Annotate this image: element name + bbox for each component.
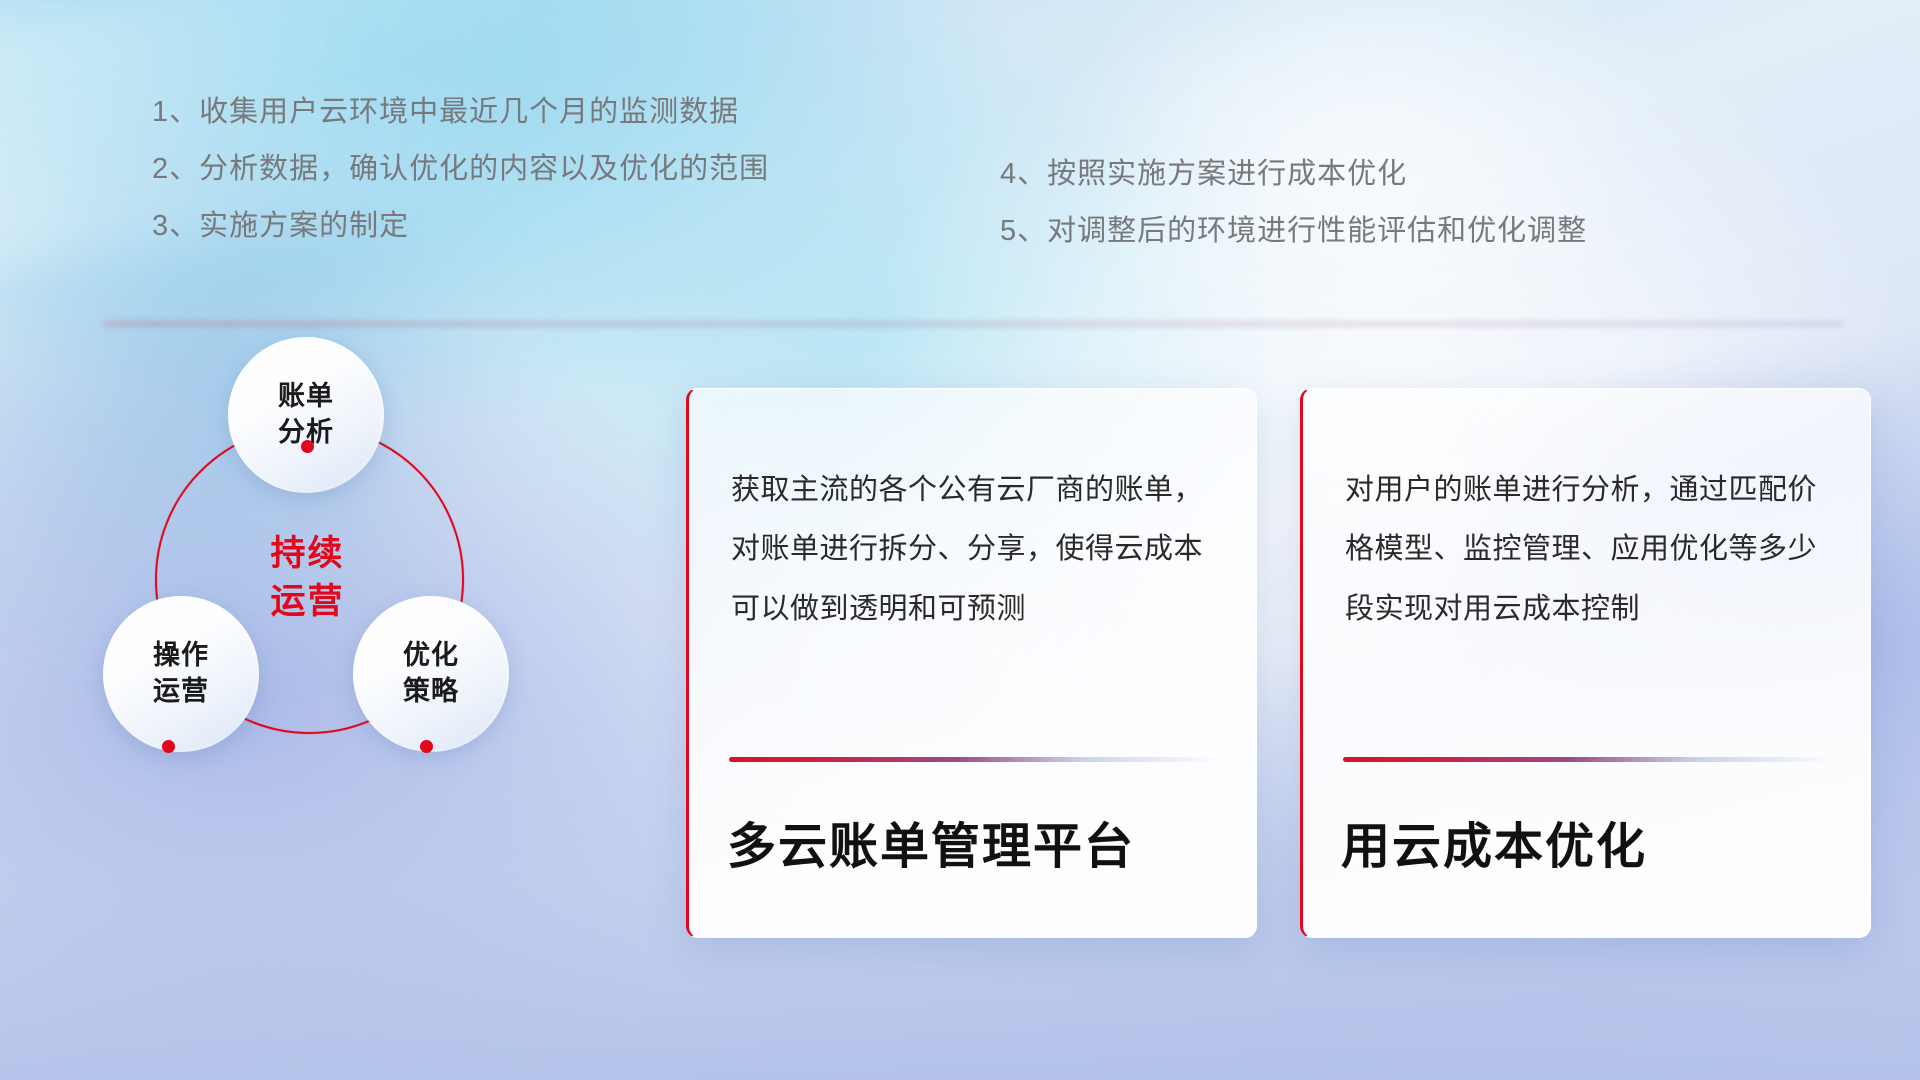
process-step-3: 3、实施方案的制定 bbox=[152, 212, 769, 241]
card-cloud-cost-optimization[interactable]: 对用户的账单进行分析，通过匹配价格模型、监控管理、应用优化等多少段实现对用云成本… bbox=[1300, 388, 1871, 938]
diagram-node-bill-analysis[interactable]: 账单 分析 bbox=[228, 337, 384, 493]
card-2-accent-rule bbox=[1343, 757, 1833, 762]
card-multi-cloud-billing-platform[interactable]: 获取主流的各个公有云厂商的账单，对账单进行拆分、分享，使得云成本可以做到透明和可… bbox=[686, 388, 1257, 938]
continuous-operation-diagram: 持续 运营 账单 分析 操作 运营 优化 策略 bbox=[95, 350, 565, 950]
process-steps-text: 1、收集用户云环境中最近几个月的监测数据 2、分析数据，确认优化的内容以及优化的… bbox=[0, 0, 1920, 270]
node-label-line1: 操作 bbox=[153, 638, 209, 674]
node-label-line1: 优化 bbox=[403, 638, 459, 674]
center-label-line1: 持续 bbox=[270, 530, 344, 577]
card-2-body: 对用户的账单进行分析，通过匹配价格模型、监控管理、应用优化等多少段实现对用云成本… bbox=[1345, 461, 1840, 639]
process-step-2: 2、分析数据，确认优化的内容以及优化的范围 bbox=[152, 155, 769, 184]
diagram-node-optimization-strategy-label: 优化 策略 bbox=[403, 638, 459, 709]
process-steps-left-column: 1、收集用户云环境中最近几个月的监测数据 2、分析数据，确认优化的内容以及优化的… bbox=[152, 98, 769, 269]
process-step-1: 1、收集用户云环境中最近几个月的监测数据 bbox=[152, 98, 769, 127]
card-1-accent-rule bbox=[729, 757, 1219, 762]
card-2-title: 用云成本优化 bbox=[1341, 807, 1647, 878]
node-label-line2: 运营 bbox=[153, 674, 209, 710]
node-label-line1: 账单 bbox=[278, 379, 334, 415]
process-steps-right-column: 4、按照实施方案进行成本优化 5、对调整后的环境进行性能评估和优化调整 bbox=[1000, 160, 1587, 274]
process-step-4: 4、按照实施方案进行成本优化 bbox=[1000, 160, 1587, 189]
process-step-5: 5、对调整后的环境进行性能评估和优化调整 bbox=[1000, 217, 1587, 246]
diagram-node-operation[interactable]: 操作 运营 bbox=[103, 596, 259, 752]
node-label-line2: 策略 bbox=[403, 674, 459, 710]
card-1-body: 获取主流的各个公有云厂商的账单，对账单进行拆分、分享，使得云成本可以做到透明和可… bbox=[731, 461, 1226, 639]
card-1-title: 多云账单管理平台 bbox=[727, 807, 1135, 878]
diagram-node-operation-label: 操作 运营 bbox=[153, 638, 209, 709]
divider-shadow bbox=[103, 321, 1843, 327]
center-label-line2: 运营 bbox=[270, 578, 344, 625]
diagram-junction-dot-bottom-right bbox=[420, 740, 433, 753]
diagram-junction-dot-top bbox=[301, 440, 314, 453]
diagram-node-optimization-strategy[interactable]: 优化 策略 bbox=[353, 596, 509, 752]
diagram-junction-dot-bottom-left bbox=[162, 740, 175, 753]
